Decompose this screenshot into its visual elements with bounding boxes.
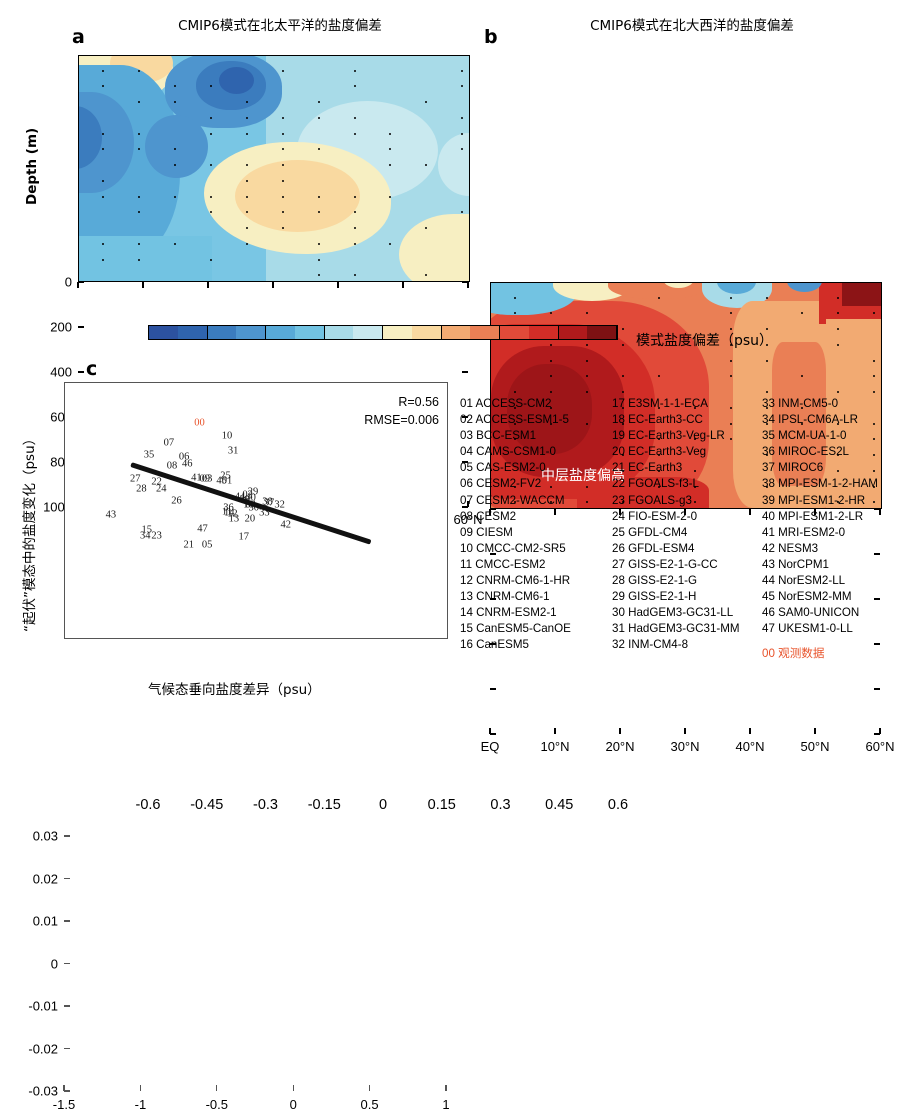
- stipple-dot: [210, 133, 212, 135]
- stipple-dot: [246, 117, 248, 119]
- colorbar-swatch: [587, 326, 617, 339]
- scatter-point-label: 28: [136, 484, 147, 495]
- stipple-dot: [210, 211, 212, 213]
- colorbar-swatch: [266, 326, 295, 339]
- colorbar-tick-label: -0.3: [253, 797, 278, 813]
- y-axis-tick: [490, 733, 496, 734]
- colorbar-swatch: [470, 326, 500, 339]
- scatter-point-label: 21: [184, 539, 195, 550]
- colorbar-tick-label: -0.6: [136, 797, 161, 813]
- model-legend-entry: 12 CNRM-CM6-1-HR: [460, 573, 571, 589]
- stipple-dot: [730, 297, 732, 299]
- scatter-point-label: 42: [281, 519, 292, 530]
- stipple-dot: [174, 148, 176, 150]
- stipple-dot: [586, 501, 588, 503]
- stipple-dot: [873, 360, 875, 362]
- model-legend-entry: 19 EC-Earth3-Veg-LR: [612, 428, 740, 444]
- scatter-point-label: 34: [140, 531, 151, 542]
- stipple-dot: [138, 101, 140, 103]
- stipple-dot: [138, 259, 140, 261]
- panel-a-y-axis-title: Depth (m): [24, 128, 40, 205]
- panel-c-y-tick: [64, 920, 70, 921]
- stipple-dot: [730, 360, 732, 362]
- panel-c-y-tick-label: 0.03: [14, 829, 58, 844]
- stipple-dot: [550, 391, 552, 393]
- panel-a-contour-map: [78, 55, 470, 282]
- scatter-point-label: 07: [164, 437, 175, 448]
- stipple-dot: [174, 85, 176, 87]
- model-legend-entry: 10 CMCC-CM2-SR5: [460, 541, 571, 557]
- stipple-dot: [210, 164, 212, 166]
- stipple-dot: [389, 133, 391, 135]
- model-legend-entry: 26 GFDL-ESM4: [612, 541, 740, 557]
- stipple-dot: [354, 133, 356, 135]
- colorbar-swatch: [383, 326, 412, 339]
- x-axis-tick: [142, 282, 143, 288]
- model-legend-entry: 22 FGOALS-f3-L: [612, 476, 740, 492]
- stipple-dot: [801, 375, 803, 377]
- panel-c-y-axis-title: “起伏”模态中的盐度变化（psu）: [18, 432, 38, 632]
- colorbar-tick-label: 0.3: [490, 797, 510, 813]
- model-legend-entry: 36 MIROC-ES2L: [762, 444, 878, 460]
- stipple-dot: [514, 297, 516, 299]
- panel-c-x-tick-label: 0.5: [361, 1097, 379, 1112]
- stipple-dot: [837, 344, 839, 346]
- scatter-point-label: 24: [156, 484, 167, 495]
- colorbar-swatch: [353, 326, 383, 339]
- stipple-dot: [354, 85, 356, 87]
- model-legend-entry: 41 MRI-ESM2-0: [762, 525, 878, 541]
- panel-c-y-tick: [64, 1005, 70, 1006]
- panel-c-x-tick-label: -1: [135, 1097, 147, 1112]
- model-legend-entry: 47 UKESM1-0-LL: [762, 621, 878, 637]
- y-axis-tick: [78, 281, 84, 282]
- scatter-point-label: 47: [197, 523, 208, 534]
- y-axis-tick-label: 0: [30, 275, 72, 290]
- stipple-dot: [318, 243, 320, 245]
- stipple-dot: [622, 344, 624, 346]
- model-legend-entry: 42 NESM3: [762, 541, 878, 557]
- stipple-dot: [138, 148, 140, 150]
- scatter-point-label: 26: [171, 495, 182, 506]
- panel-c-y-tick-label: 0.01: [14, 914, 58, 929]
- panel-a-significance-stippling: [79, 56, 469, 281]
- stipple-dot: [514, 312, 516, 314]
- model-legend-entry: 16 CanESM5: [460, 637, 571, 653]
- model-legend-entry: 17 E3SM-1-1-ECA: [612, 396, 740, 412]
- x-axis-tick: [272, 282, 273, 288]
- panel-c-letter: c: [86, 358, 97, 380]
- stipple-dot: [138, 211, 140, 213]
- stipple-dot: [550, 344, 552, 346]
- stipple-dot: [210, 259, 212, 261]
- model-legend-entry: 15 CanESM5-CanOE: [460, 621, 571, 637]
- model-legend-entry: 11 CMCC-ESM2: [460, 557, 571, 573]
- stipple-dot: [354, 274, 356, 276]
- stipple-dot: [354, 227, 356, 229]
- stipple-dot: [282, 133, 284, 135]
- colorbar-tick-label: 0: [379, 797, 387, 813]
- stipple-dot: [425, 101, 427, 103]
- stipple-dot: [730, 375, 732, 377]
- stipple-dot: [425, 227, 427, 229]
- stipple-dot: [102, 180, 104, 182]
- model-legend-entry: 06 CESM2-FV2: [460, 476, 571, 492]
- stipple-dot: [766, 391, 768, 393]
- stipple-dot: [766, 297, 768, 299]
- panel-c-y-tick: [64, 878, 70, 879]
- model-legend-entry: 02 ACCESS-ESM1-5: [460, 412, 571, 428]
- model-legend-entry: 30 HadGEM3-GC31-LL: [612, 605, 740, 621]
- x-axis-tick: [337, 282, 338, 288]
- panel-c-scatter-plot: 0007103506310846252741030945012228242902…: [64, 382, 448, 639]
- colorbar-title: 模式盐度偏差（psu）: [636, 330, 773, 350]
- scatter-point-label: 17: [239, 531, 250, 542]
- stipple-dot: [246, 196, 248, 198]
- scatter-point-label: 05: [202, 539, 213, 550]
- stipple-dot: [174, 243, 176, 245]
- model-legend-entry: 29 GISS-E2-1-H: [612, 589, 740, 605]
- stipple-dot: [102, 259, 104, 261]
- stipple-dot: [138, 70, 140, 72]
- scatter-point-label: 43: [106, 509, 117, 520]
- stipple-dot: [514, 391, 516, 393]
- stipple-dot: [425, 274, 427, 276]
- panel-c-x-tick-label: -0.5: [206, 1097, 228, 1112]
- model-legend-entry: 38 MPI-ESM-1-2-HAM: [762, 476, 878, 492]
- colorbar-swatch: [529, 326, 559, 339]
- model-legend-entry: 45 NorESM2-MM: [762, 589, 878, 605]
- stipple-dot: [318, 148, 320, 150]
- scatter-point-label: 13: [229, 514, 240, 525]
- scatter-point-label: 35: [144, 449, 155, 460]
- model-legend-entry: 21 EC-Earth3: [612, 460, 740, 476]
- stipple-dot: [622, 328, 624, 330]
- model-legend-entry: 24 FIO-ESM-2-0: [612, 509, 740, 525]
- stipple-dot: [622, 375, 624, 377]
- panel-c-x-tick-label: 0: [290, 1097, 297, 1112]
- stipple-dot: [354, 117, 356, 119]
- x-axis-tick-label: 10°N: [540, 739, 569, 754]
- colorbar-swatch: [325, 326, 354, 339]
- colorbar-tick-label: 0.6: [608, 797, 628, 813]
- x-axis-tick-label: EQ: [481, 739, 500, 754]
- colorbar-tick-label: -0.45: [190, 797, 223, 813]
- panel-c-x-tick-label: -1.5: [53, 1097, 75, 1112]
- colorbar-swatch: [178, 326, 208, 339]
- stipple-dot: [282, 148, 284, 150]
- stipple-dot: [461, 148, 463, 150]
- stipple-dot: [318, 259, 320, 261]
- stipple-dot: [102, 243, 104, 245]
- model-legend-entry: 14 CNRM-ESM2-1: [460, 605, 571, 621]
- rmse-stat: RMSE=0.006: [364, 413, 439, 427]
- stipple-dot: [730, 312, 732, 314]
- y-axis-tick: [490, 688, 496, 689]
- model-legend-column-1: 01 ACCESS-CM202 ACCESS-ESM1-503 BCC-ESM1…: [460, 396, 571, 654]
- model-legend-entry: 31 HadGEM3-GC31-MM: [612, 621, 740, 637]
- model-legend-entry: 39 MPI-ESM1-2-HR: [762, 493, 878, 509]
- scatter-point-observation: 00: [194, 418, 205, 429]
- stipple-dot: [586, 391, 588, 393]
- stipple-dot: [282, 117, 284, 119]
- model-legend-entry: 13 CNRM-CM6-1: [460, 589, 571, 605]
- y-axis-tick: [874, 688, 880, 689]
- stipple-dot: [873, 312, 875, 314]
- model-legend-entry: 01 ACCESS-CM2: [460, 396, 571, 412]
- stipple-dot: [102, 133, 104, 135]
- x-axis-tick-label: 60°N: [865, 739, 894, 754]
- colorbar-swatch: [295, 326, 325, 339]
- stipple-dot: [586, 423, 588, 425]
- model-legend-column-3: 33 INM-CM5-034 IPSL-CM6A-LR35 MCM-UA-1-0…: [762, 396, 878, 637]
- colorbar-swatch: [236, 326, 266, 339]
- colorbar-swatch: [208, 326, 237, 339]
- stipple-dot: [138, 196, 140, 198]
- stipple-dot: [174, 101, 176, 103]
- stipple-dot: [801, 312, 803, 314]
- colorbar-swatch: [412, 326, 442, 339]
- x-axis-tick: [554, 728, 555, 734]
- stipple-dot: [102, 70, 104, 72]
- stipple-dot: [174, 196, 176, 198]
- x-axis-tick: [814, 728, 815, 734]
- x-axis-tick: [402, 282, 403, 288]
- model-legend-entry: 07 CESM2-WACCM: [460, 493, 571, 509]
- stipple-dot: [282, 196, 284, 198]
- stipple-dot: [138, 133, 140, 135]
- model-legend-entry: 20 EC-Earth3-Veg: [612, 444, 740, 460]
- y-axis-tick: [462, 371, 468, 372]
- model-legend-entry: 04 CAMS-CSM1-0: [460, 444, 571, 460]
- colorbar-tick-label: 0.45: [545, 797, 573, 813]
- stipple-dot: [425, 164, 427, 166]
- stipple-dot: [246, 180, 248, 182]
- stipple-dot: [318, 211, 320, 213]
- x-axis-tick-label: 30°N: [670, 739, 699, 754]
- stipple-dot: [389, 243, 391, 245]
- panel-c-y-tick: [64, 835, 70, 836]
- model-legend-entry: 09 CIESM: [460, 525, 571, 541]
- model-legend-entry: 28 GISS-E2-1-G: [612, 573, 740, 589]
- y-axis-tick-label: 400: [30, 365, 72, 380]
- stipple-dot: [837, 297, 839, 299]
- x-axis-tick: [749, 509, 750, 515]
- stipple-dot: [246, 133, 248, 135]
- stipple-dot: [550, 312, 552, 314]
- x-axis-tick: [749, 728, 750, 734]
- panel-c-x-tick: [216, 1085, 217, 1091]
- x-axis-tick-label: 20°N: [605, 739, 634, 754]
- y-axis-tick-label: 200: [30, 320, 72, 335]
- model-legend-entry: 23 FGOALS-g3: [612, 493, 740, 509]
- figure-root: a CMIP6模式在北太平洋的盐度偏差 EQ10°N20°N30°N40°N50…: [0, 0, 899, 720]
- stipple-dot: [318, 274, 320, 276]
- y-axis-tick: [874, 643, 880, 644]
- stipple-dot: [389, 196, 391, 198]
- stipple-dot: [318, 196, 320, 198]
- panel-c-y-tick-label: -0.02: [14, 1041, 58, 1056]
- stipple-dot: [461, 117, 463, 119]
- panel-c-y-tick-label: 0.02: [14, 871, 58, 886]
- model-legend-entry: 46 SAM0-UNICON: [762, 605, 878, 621]
- x-axis-tick: [879, 509, 880, 515]
- x-axis-tick: [207, 282, 208, 288]
- stipple-dot: [586, 360, 588, 362]
- stipple-dot: [658, 297, 660, 299]
- panel-c-x-axis-title: 气候态垂向盐度差异（psu）: [148, 678, 321, 698]
- panel-c-x-tick: [293, 1085, 294, 1091]
- stipple-dot: [354, 243, 356, 245]
- stipple-dot: [318, 101, 320, 103]
- y-axis-tick: [78, 371, 84, 372]
- stipple-dot: [282, 227, 284, 229]
- scatter-point-label: 01: [222, 475, 233, 486]
- colorbar-swatch: [559, 326, 588, 339]
- colorbar-swatch: [500, 326, 529, 339]
- stipple-dot: [837, 391, 839, 393]
- stipple-dot: [354, 196, 356, 198]
- colorbar-tick-label: -0.15: [308, 797, 341, 813]
- stipple-dot: [354, 70, 356, 72]
- x-axis-tick: [77, 282, 78, 288]
- model-legend-entry: 44 NorESM2-LL: [762, 573, 878, 589]
- model-legend-entry: 03 BCC-ESM1: [460, 428, 571, 444]
- y-axis-tick: [78, 326, 84, 327]
- correlation-stat: R=0.56: [398, 395, 439, 409]
- stipple-dot: [210, 117, 212, 119]
- stipple-dot: [282, 70, 284, 72]
- model-legend-entry: 37 MIROC6: [762, 460, 878, 476]
- model-legend-entry: 34 IPSL-CM6A-LR: [762, 412, 878, 428]
- stipple-dot: [246, 164, 248, 166]
- panel-c-y-tick-label: -0.01: [14, 999, 58, 1014]
- x-axis-tick: [467, 282, 468, 288]
- model-legend-entry: 35 MCM-UA-1-0: [762, 428, 878, 444]
- stipple-dot: [389, 148, 391, 150]
- stipple-dot: [246, 101, 248, 103]
- stipple-dot: [550, 375, 552, 377]
- stipple-dot: [318, 117, 320, 119]
- panel-b-title: CMIP6模式在北大西洋的盐度偏差: [492, 14, 892, 34]
- panel-c-x-tick-label: 1: [442, 1097, 449, 1112]
- model-legend-column-2: 17 E3SM-1-1-ECA18 EC-Earth3-CC19 EC-Eart…: [612, 396, 740, 654]
- stipple-dot: [210, 85, 212, 87]
- stipple-dot: [586, 486, 588, 488]
- scatter-point-label: 46: [182, 458, 193, 469]
- stipple-dot: [873, 391, 875, 393]
- y-axis-tick: [874, 733, 880, 734]
- stipple-dot: [282, 164, 284, 166]
- panel-c-y-tick: [64, 1090, 70, 1091]
- panel-c-y-tick-label: -0.03: [14, 1084, 58, 1099]
- stipple-dot: [210, 196, 212, 198]
- scatter-point-label: 20: [245, 514, 256, 525]
- stipple-dot: [102, 196, 104, 198]
- stipple-dot: [246, 243, 248, 245]
- model-legend-entry: 32 INM-CM4-8: [612, 637, 740, 653]
- colorbar-swatch: [442, 326, 471, 339]
- observation-legend-note: 00 观测数据: [762, 645, 825, 661]
- stipple-dot: [282, 180, 284, 182]
- x-axis-tick-label: 40°N: [735, 739, 764, 754]
- scatter-point-label: 08: [167, 460, 178, 471]
- stipple-dot: [461, 70, 463, 72]
- stipple-dot: [282, 211, 284, 213]
- panel-c-x-tick: [369, 1085, 370, 1091]
- stipple-dot: [622, 391, 624, 393]
- panel-c-y-tick-label: 0: [14, 956, 58, 971]
- model-legend-entry: 05 CAS-ESM2-0: [460, 460, 571, 476]
- model-legend-entry: 33 INM-CM5-0: [762, 396, 878, 412]
- stipple-dot: [461, 85, 463, 87]
- stipple-dot: [102, 148, 104, 150]
- model-legend-entry: 27 GISS-E2-1-G-CC: [612, 557, 740, 573]
- x-axis-tick: [684, 728, 685, 734]
- model-legend-entry: 43 NorCPM1: [762, 557, 878, 573]
- model-legend-entry: 25 GFDL-CM4: [612, 525, 740, 541]
- scatter-point-label: 09: [200, 473, 211, 484]
- scatter-point-label: 10: [222, 431, 233, 442]
- stipple-dot: [586, 375, 588, 377]
- stipple-dot: [586, 312, 588, 314]
- model-legend-entry: 40 MPI-ESM1-2-LR: [762, 509, 878, 525]
- x-axis-tick: [619, 728, 620, 734]
- y-axis-tick: [462, 281, 468, 282]
- stipple-dot: [246, 227, 248, 229]
- model-legend-entry: 18 EC-Earth3-CC: [612, 412, 740, 428]
- colorbar-swatch: [149, 326, 178, 339]
- colorbar: [148, 325, 618, 340]
- panel-c-y-tick: [64, 963, 70, 964]
- stipple-dot: [658, 375, 660, 377]
- stipple-dot: [837, 328, 839, 330]
- stipple-dot: [461, 133, 463, 135]
- scatter-point-label: 31: [228, 446, 239, 457]
- stipple-dot: [837, 312, 839, 314]
- model-legend-entry: 08 CESM2: [460, 509, 571, 525]
- stipple-dot: [873, 375, 875, 377]
- panel-c-y-tick: [64, 1048, 70, 1049]
- stipple-dot: [102, 85, 104, 87]
- scatter-point-label: 23: [151, 531, 162, 542]
- stipple-dot: [354, 211, 356, 213]
- x-axis-tick-label: 50°N: [800, 739, 829, 754]
- stipple-dot: [461, 211, 463, 213]
- stipple-dot: [766, 360, 768, 362]
- stipple-dot: [550, 360, 552, 362]
- panel-a-title: CMIP6模式在北太平洋的盐度偏差: [80, 14, 480, 34]
- panel-c-x-tick: [140, 1085, 141, 1091]
- stipple-dot: [138, 243, 140, 245]
- stipple-dot: [586, 344, 588, 346]
- panel-c-x-tick: [445, 1085, 446, 1091]
- stipple-dot: [174, 164, 176, 166]
- colorbar-tick-label: 0.15: [428, 797, 456, 813]
- stipple-dot: [389, 164, 391, 166]
- stipple-dot: [246, 211, 248, 213]
